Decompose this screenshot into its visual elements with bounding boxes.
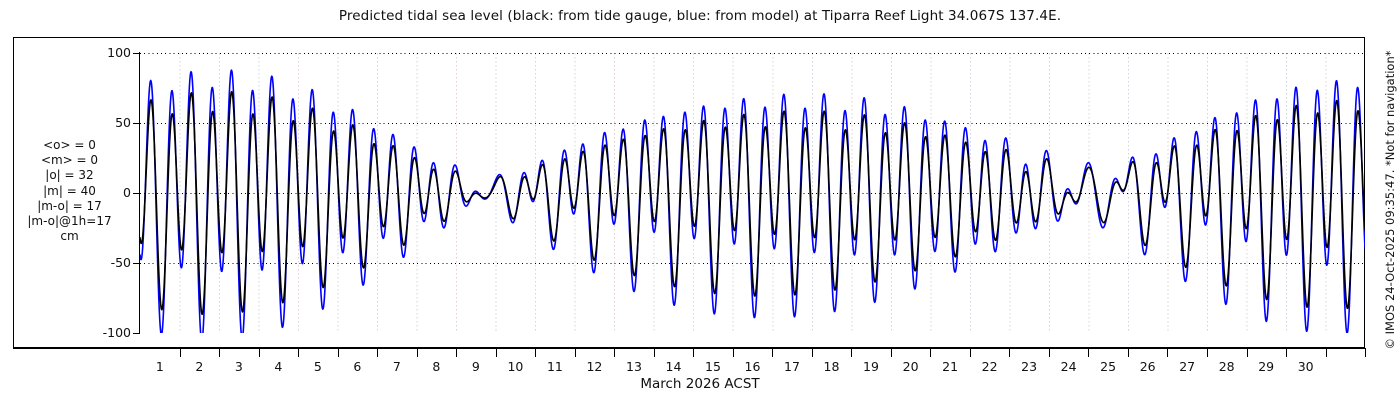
x-axis-label: 29 — [1246, 359, 1286, 374]
x-axis-title: March 2026 ACST — [0, 376, 1400, 392]
credit-text: © IMOS 24-Oct-2025 09:35:47. *Not for na… — [1383, 51, 1397, 350]
y-axis-tick — [133, 263, 139, 264]
x-axis-tick — [693, 348, 694, 357]
plot-area — [140, 53, 1365, 333]
x-axis-label: 30 — [1286, 359, 1326, 374]
y-axis-tick — [133, 193, 139, 194]
y-axis: 100500-50-100 — [139, 52, 140, 334]
x-axis-tick — [1365, 348, 1366, 357]
statistics-line: <o> = 0 — [4, 138, 135, 153]
x-axis-label: 4 — [258, 359, 298, 374]
x-axis-tick — [891, 348, 892, 357]
x-axis-label: 12 — [574, 359, 614, 374]
x-axis-tick — [338, 348, 339, 357]
x-axis-label: 25 — [1088, 359, 1128, 374]
y-axis-label: -50 — [87, 255, 131, 270]
x-axis-label: 1 — [140, 359, 180, 374]
page-title: Predicted tidal sea level (black: from t… — [0, 8, 1400, 24]
x-axis-label: 8 — [416, 359, 456, 374]
x-axis-tick — [1088, 348, 1089, 357]
x-axis-tick — [259, 348, 260, 357]
series-line-model — [140, 70, 1365, 333]
x-axis-tick — [733, 348, 734, 357]
x-axis-label: 20 — [891, 359, 931, 374]
x-axis-label: 11 — [535, 359, 575, 374]
x-axis-label: 13 — [614, 359, 654, 374]
x-axis-label: 28 — [1207, 359, 1247, 374]
x-axis-tick — [851, 348, 852, 357]
y-axis-label: 100 — [87, 45, 131, 60]
x-axis-tick — [1128, 348, 1129, 357]
x-axis-label: 16 — [733, 359, 773, 374]
x-axis-label: 24 — [1049, 359, 1089, 374]
credit-label: © IMOS 24-Oct-2025 09:35:47. *Not for na… — [1379, 0, 1400, 400]
x-axis-tick — [1286, 348, 1287, 357]
x-axis-label: 2 — [179, 359, 219, 374]
statistics-line: cm — [4, 229, 135, 244]
x-axis-tick — [1326, 348, 1327, 357]
x-axis-tick — [812, 348, 813, 357]
x-axis-tick — [614, 348, 615, 357]
x-axis-tick — [219, 348, 220, 357]
chart-page: Predicted tidal sea level (black: from t… — [0, 0, 1400, 400]
x-axis-label: 6 — [337, 359, 377, 374]
statistics-line: |m-o|@1h=17 — [4, 214, 135, 229]
y-axis-tick — [133, 123, 139, 124]
x-axis — [13, 348, 1365, 349]
x-axis-tick — [1009, 348, 1010, 357]
tidal-series-svg — [140, 53, 1365, 333]
x-axis-tick — [970, 348, 971, 357]
x-axis-tick — [377, 348, 378, 357]
y-axis-label: 0 — [87, 185, 131, 200]
x-axis-label: 22 — [970, 359, 1010, 374]
statistics-line: |o| = 32 — [4, 168, 135, 183]
x-axis-label: 17 — [772, 359, 812, 374]
statistics-line: |m-o| = 17 — [4, 199, 135, 214]
x-axis-tick — [1167, 348, 1168, 357]
x-axis-tick — [1049, 348, 1050, 357]
y-axis-tick — [133, 333, 139, 334]
x-axis-tick — [417, 348, 418, 357]
x-axis-label: 18 — [812, 359, 852, 374]
x-axis-tick — [298, 348, 299, 357]
x-axis-label: 23 — [1009, 359, 1049, 374]
x-axis-tick — [930, 348, 931, 357]
x-axis-label: 3 — [219, 359, 259, 374]
series-line-observed — [140, 92, 1365, 315]
x-axis-tick — [1247, 348, 1248, 357]
x-axis-tick — [575, 348, 576, 357]
x-axis-label: 15 — [693, 359, 733, 374]
x-axis-tick — [496, 348, 497, 357]
x-axis-label: 7 — [377, 359, 417, 374]
x-axis-label: 5 — [298, 359, 338, 374]
x-axis-label: 10 — [495, 359, 535, 374]
x-axis-label: 14 — [654, 359, 694, 374]
x-axis-tick — [535, 348, 536, 357]
x-axis-tick — [654, 348, 655, 357]
y-axis-label: 50 — [87, 115, 131, 130]
x-axis-label: 9 — [456, 359, 496, 374]
x-axis-label: 19 — [851, 359, 891, 374]
y-axis-label: -100 — [87, 325, 131, 340]
x-axis-tick — [456, 348, 457, 357]
x-axis-tick — [1207, 348, 1208, 357]
x-axis-label: 26 — [1128, 359, 1168, 374]
y-axis-tick — [133, 53, 139, 54]
x-axis-tick — [180, 348, 181, 357]
x-axis-tick — [772, 348, 773, 357]
x-axis-label: 27 — [1167, 359, 1207, 374]
statistics-line: <m> = 0 — [4, 153, 135, 168]
x-axis-label: 21 — [930, 359, 970, 374]
